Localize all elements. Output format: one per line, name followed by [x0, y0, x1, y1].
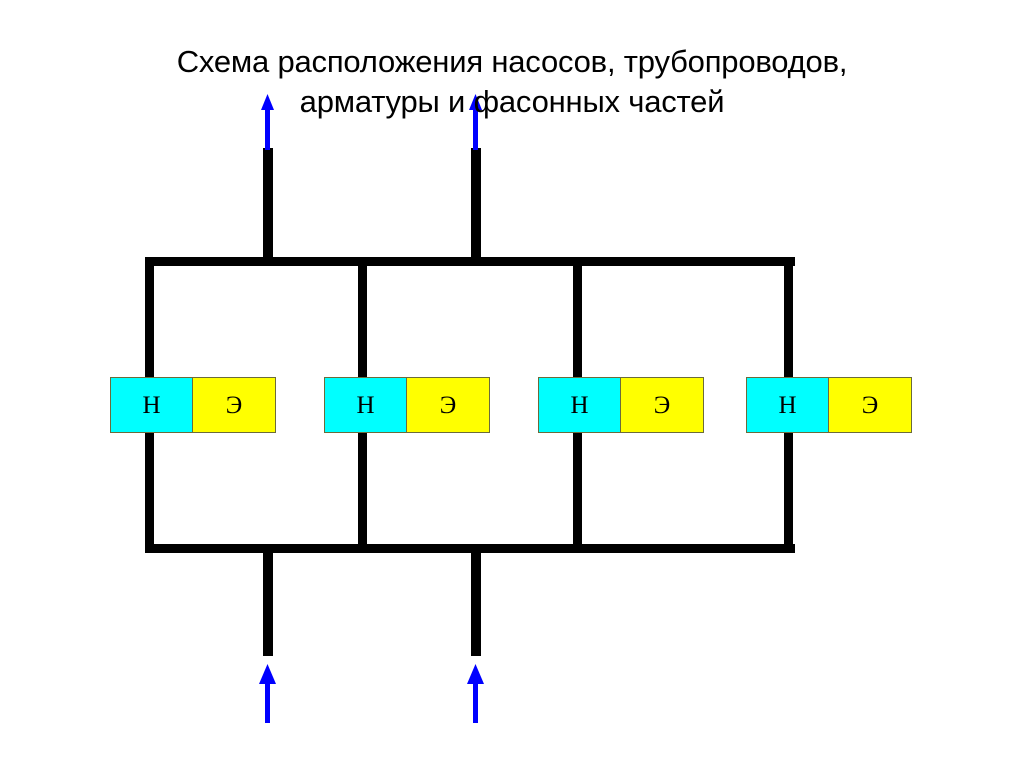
bottom-header-pipe [145, 544, 795, 553]
suction-arrow-group [259, 664, 484, 723]
suction-pipe-1 [263, 548, 273, 656]
pump-label-3: Н [570, 393, 588, 418]
pump-unit-4[interactable]: Н Э [746, 377, 912, 433]
motor-label-1: Э [226, 393, 243, 418]
suction-arrow-1 [259, 664, 276, 723]
pump-label-4: Н [778, 393, 796, 418]
motor-box-3[interactable]: Э [621, 377, 704, 433]
pump-label-1: Н [142, 393, 160, 418]
pump-unit-3[interactable]: Н Э [538, 377, 704, 433]
pump-unit-2[interactable]: Н Э [324, 377, 490, 433]
suction-pipe-group [263, 548, 481, 656]
top-header-pipe [145, 257, 795, 266]
motor-box-4[interactable]: Э [829, 377, 912, 433]
pump-unit-1[interactable]: Н Э [110, 377, 276, 433]
discharge-pipe-2 [471, 148, 481, 264]
motor-label-3: Э [654, 393, 671, 418]
motor-box-2[interactable]: Э [407, 377, 490, 433]
motor-box-1[interactable]: Э [193, 377, 276, 433]
suction-arrow-2 [467, 664, 484, 723]
pump-box-1[interactable]: Н [110, 377, 193, 433]
discharge-pipe-group [263, 148, 481, 264]
pump-box-2[interactable]: Н [324, 377, 407, 433]
pump-box-4[interactable]: Н [746, 377, 829, 433]
slide-canvas: Схема расположения насосов, трубопроводо… [0, 0, 1024, 767]
motor-label-2: Э [440, 393, 457, 418]
page-title: Схема расположения насосов, трубопроводо… [62, 42, 962, 122]
discharge-pipe-1 [263, 148, 273, 264]
motor-label-4: Э [862, 393, 879, 418]
pump-box-3[interactable]: Н [538, 377, 621, 433]
suction-pipe-2 [471, 548, 481, 656]
pump-label-2: Н [356, 393, 374, 418]
